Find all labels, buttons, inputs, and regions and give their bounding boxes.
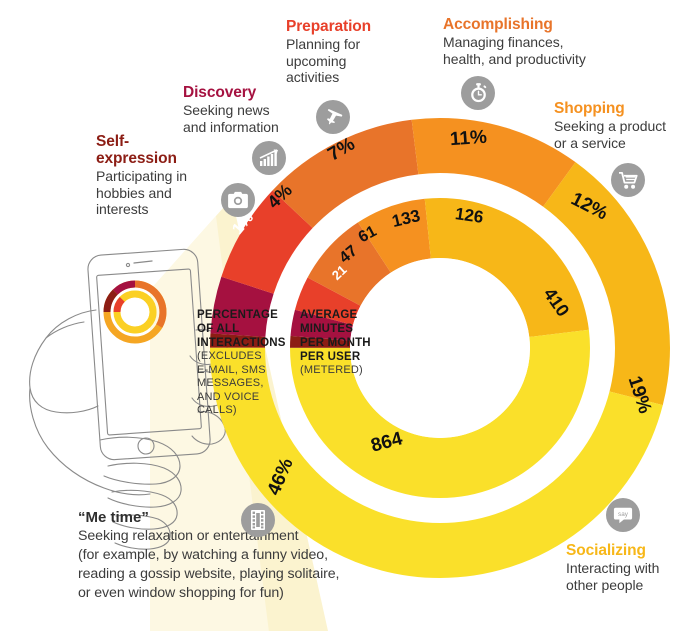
outer-ring-caption: PERCENTAGE OF ALL INTERACTIONS (EXCLUDES… (197, 308, 283, 418)
inner-ring-caption-line1: AVERAGE (300, 308, 386, 322)
callout-self-expression-sub-line1: Participating in (96, 168, 187, 184)
film-strip-icon (241, 503, 275, 537)
inner-ring-caption-line4: PER USER (300, 350, 386, 364)
outer-ring-caption-note2: E-MAIL, SMS (197, 364, 283, 378)
callout-shopping-sub-line2: or a service (554, 135, 626, 151)
callout-discovery: Discovery Seeking news and information (183, 84, 313, 135)
speech-bubble-icon: say (606, 498, 640, 532)
outer-ring-caption-line1: PERCENTAGE (197, 308, 283, 322)
callout-self-expression-title-line1: Self- (96, 133, 129, 150)
outer-ring-caption-note1: (EXCLUDES (197, 350, 283, 364)
callout-discovery-sub-line1: Seeking news (183, 102, 270, 118)
inner-ring-caption-line2: MINUTES (300, 322, 386, 336)
outer-ring-caption-line3: INTERACTIONS (197, 336, 283, 350)
callout-socializing-sub-line1: Interacting with (566, 560, 659, 576)
camera-icon (221, 183, 255, 217)
callout-preparation-sub-line3: activities (286, 69, 339, 85)
callout-socializing-title: Socializing (566, 542, 646, 559)
callout-me-time: “Me time” Seeking relaxation or entertai… (78, 508, 388, 603)
callout-self-expression-sub-line3: interests (96, 201, 148, 217)
callout-accomplishing: Accomplishing Managing finances, health,… (443, 16, 623, 67)
stopwatch-icon (461, 76, 495, 110)
arc-label-shopping-min: 126 (454, 204, 485, 228)
callout-preparation-title: Preparation (286, 18, 371, 35)
phone-screen-mini-donut (107, 284, 163, 340)
outer-ring-caption-line2: OF ALL (197, 322, 283, 336)
arc-label-accomplishing-pct: 11% (449, 127, 487, 152)
callout-socializing-sub-line2: other people (566, 577, 643, 593)
callout-shopping: Shopping Seeking a product or a service (554, 100, 692, 151)
callout-me-time-title: “Me time” (78, 508, 388, 527)
callout-self-expression: Self- expression Participating in hobbie… (96, 133, 206, 218)
callout-accomplishing-sub-line2: health, and productivity (443, 51, 586, 67)
infographic-canvas: 1% 4% 7% 11% 12% 19% 46% 21 47 61 133 12… (0, 0, 692, 631)
callout-preparation-sub-line1: Planning for (286, 36, 360, 52)
inner-ring-caption-note: (METERED) (300, 364, 386, 378)
callout-preparation-sub-line2: upcoming (286, 53, 346, 69)
outer-ring-caption-note4: AND VOICE (197, 391, 283, 405)
inner-ring-caption: AVERAGE MINUTES PER MONTH PER USER (METE… (300, 308, 386, 378)
inner-ring-caption-line3: PER MONTH (300, 336, 386, 350)
callout-accomplishing-title: Accomplishing (443, 16, 553, 33)
bar-chart-icon (252, 141, 286, 175)
callout-preparation: Preparation Planning for upcoming activi… (286, 18, 396, 86)
callout-me-time-sub-line2: (for example, by watching a funny video, (78, 547, 328, 563)
callout-self-expression-sub-line2: hobbies and (96, 185, 172, 201)
callout-self-expression-title-line2: expression (96, 150, 177, 167)
callout-discovery-sub-line2: and information (183, 119, 279, 135)
outer-ring-caption-note3: MESSAGES, (197, 377, 283, 391)
callout-shopping-title: Shopping (554, 100, 625, 117)
callout-me-time-sub-line4: or even window shopping for fun) (78, 585, 284, 601)
callout-socializing: Socializing Interacting with other peopl… (566, 542, 692, 593)
shopping-cart-icon (611, 163, 645, 197)
callout-discovery-title: Discovery (183, 84, 256, 101)
callout-accomplishing-sub-line1: Managing finances, (443, 34, 564, 50)
callout-me-time-sub-line3: reading a gossip website, playing solita… (78, 566, 339, 582)
outer-ring-caption-note5: CALLS) (197, 404, 283, 418)
airplane-icon (316, 100, 350, 134)
callout-shopping-sub-line1: Seeking a product (554, 118, 666, 134)
svg-text:say: say (618, 511, 629, 518)
